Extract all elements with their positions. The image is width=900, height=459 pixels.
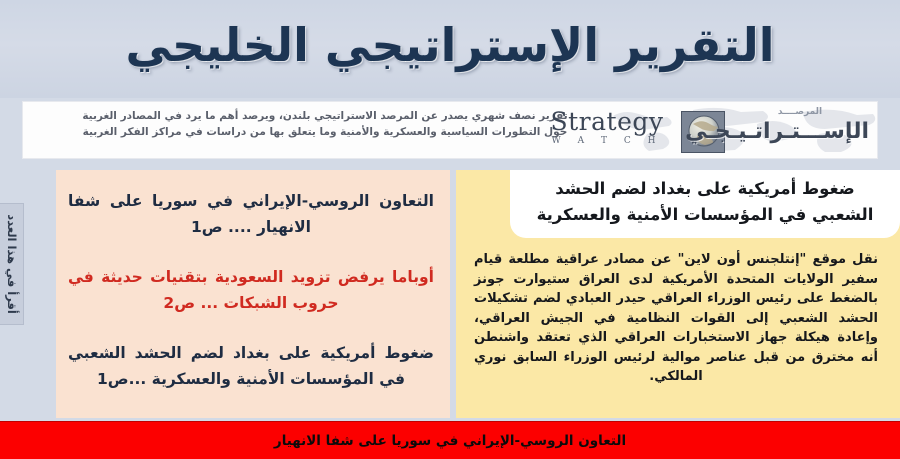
- arabic-logo-sub: المرصــــد: [731, 106, 869, 119]
- article-title-band: ضغوط أمريكية على بغداد لضم الحشد الشعبي …: [510, 170, 900, 238]
- description-line-1: تقرير نصف شهري يصدر عن المرصد الاستراتيج…: [45, 108, 605, 124]
- report-page: التقرير الإستراتيجي الخليجي تقرير نصف شه…: [0, 0, 900, 459]
- strategy-watch-wordmark: Strategy W A T C H: [537, 108, 677, 147]
- side-tab-label: أقرأ في هذا العدد: [5, 214, 19, 314]
- page-title: التقرير الإستراتيجي الخليجي: [0, 13, 900, 77]
- list-item[interactable]: التعاون الروسي-الإيراني في سوريا على شفا…: [68, 188, 434, 240]
- arabic-logo-main: الإســـتـراتـيـجـي: [731, 119, 869, 145]
- article-title: ضغوط أمريكية على بغداد لضم الحشد الشعبي …: [528, 176, 882, 228]
- list-item[interactable]: ضغوط أمريكية على بغداد لضم الحشد الشعبي …: [68, 340, 434, 392]
- ticker-banner: التعاون الروسي-الإيراني في سوريا على شفا…: [0, 421, 900, 459]
- description-line-2: حول التطورات السياسية والعسكرية والأمنية…: [45, 124, 605, 140]
- list-item[interactable]: أوباما يرفض تزويد السعودية بتقنيات حديثة…: [68, 264, 434, 316]
- arabic-logo: المرصــــد الإســـتـراتـيـجـي: [731, 106, 869, 145]
- wordmark-sub: W A T C H: [537, 135, 677, 147]
- featured-article-panel: ضغوط أمريكية على بغداد لضم الحشد الشعبي …: [456, 170, 900, 418]
- read-in-this-issue-tab[interactable]: أقرأ في هذا العدد: [0, 203, 24, 325]
- masthead: التقرير الإستراتيجي الخليجي: [0, 0, 900, 98]
- headline-list-panel: التعاون الروسي-الإيراني في سوريا على شفا…: [56, 170, 450, 418]
- header-strip: تقرير نصف شهري يصدر عن المرصد الاستراتيج…: [22, 101, 878, 159]
- report-description: تقرير نصف شهري يصدر عن المرصد الاستراتيج…: [45, 108, 605, 140]
- article-body: نقل موقع "إنتلجنس أون لاين" عن مصادر عرا…: [456, 238, 900, 387]
- ticker-text: التعاون الروسي-الإيراني في سوريا على شفا…: [0, 433, 900, 449]
- wordmark-main: Strategy: [537, 108, 677, 135]
